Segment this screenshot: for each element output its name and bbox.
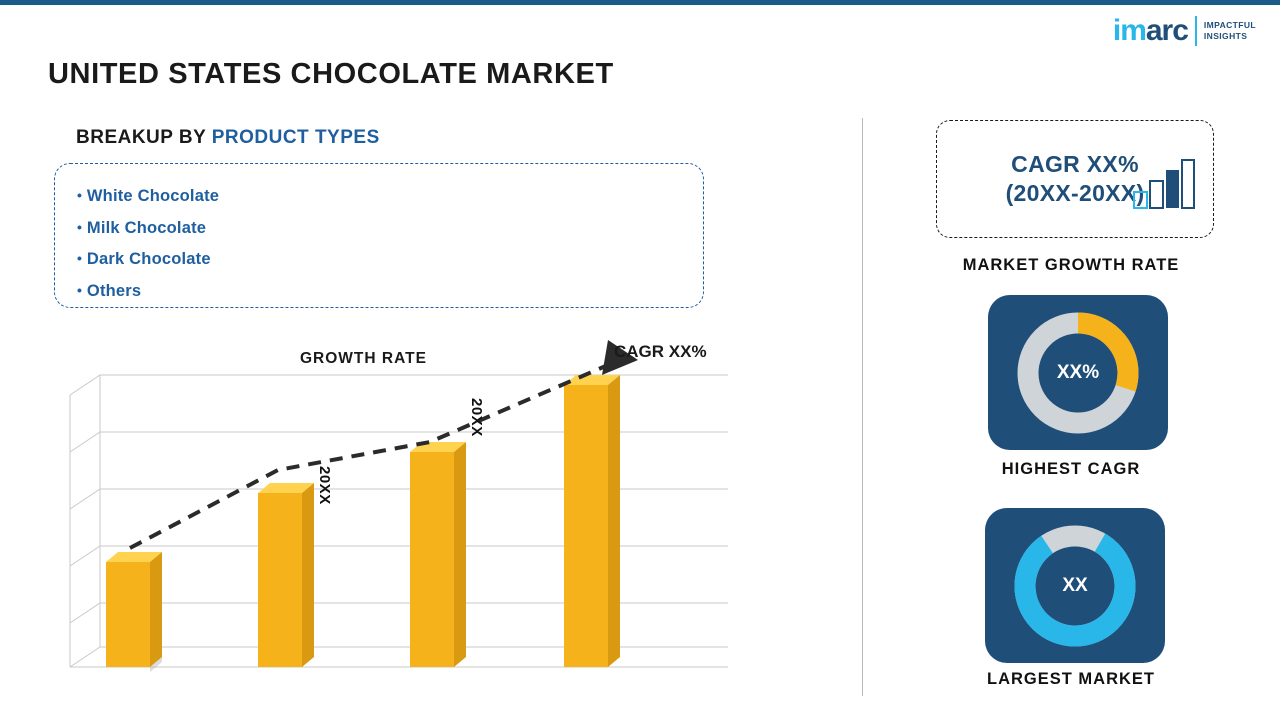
chart-bar-2 (258, 483, 314, 667)
list-item-label: White Chocolate (87, 187, 219, 205)
logo-tagline-line2: INSIGHTS (1204, 31, 1256, 42)
largest-market-card: XX (985, 508, 1165, 663)
chart-bar-3 (410, 442, 466, 667)
list-item-label: Dark Chocolate (87, 250, 211, 268)
bullet-icon: • (77, 219, 82, 235)
chart-svg (48, 330, 748, 710)
vertical-divider (862, 118, 863, 696)
bar-chart-icon (1133, 159, 1195, 209)
list-item: • Others (77, 275, 703, 307)
imarc-logo: imarc IMPACTFUL INSIGHTS (1113, 16, 1256, 46)
section-subtitle: BREAKUP BY PRODUCT TYPES (76, 127, 380, 149)
highest-cagr-caption: HIGHEST CAGR (862, 460, 1280, 479)
top-accent-bar (0, 0, 1280, 5)
bullet-icon: • (77, 250, 82, 266)
bullet-icon: • (77, 282, 82, 298)
chart-cagr-annotation: CAGR XX% (614, 342, 707, 362)
list-item: • Dark Chocolate (77, 243, 703, 275)
logo-divider (1195, 16, 1197, 46)
logo-tagline-line1: IMPACTFUL (1204, 20, 1256, 31)
chart-gridlines (70, 375, 728, 667)
market-growth-rate-caption: MARKET GROWTH RATE (862, 256, 1280, 275)
chart-x-axis-label: GROWTH RATE (300, 350, 427, 368)
list-item: • White Chocolate (77, 180, 703, 212)
largest-market-value: XX (985, 575, 1165, 597)
product-types-list: • White Chocolate • Milk Chocolate • Dar… (54, 163, 704, 308)
list-item: • Milk Chocolate (77, 212, 703, 244)
list-item-label: Others (87, 282, 141, 300)
chart-bar-3-value: 20XX (316, 466, 333, 505)
highest-cagr-value: XX% (988, 362, 1168, 384)
subtitle-highlight: PRODUCT TYPES (212, 127, 380, 148)
page-title: UNITED STATES CHOCOLATE MARKET (48, 58, 614, 91)
growth-rate-chart: 20XX 20XX CAGR XX% (48, 330, 748, 710)
market-growth-rate-box: CAGR XX% (20XX-20XX) (936, 120, 1214, 238)
cagr-line-2: (20XX-20XX) (1006, 179, 1145, 208)
market-growth-rate-value: CAGR XX% (20XX-20XX) (1006, 150, 1145, 208)
chart-trend-line (130, 340, 638, 548)
bullet-icon: • (77, 187, 82, 203)
chart-bar-1 (106, 552, 162, 672)
cagr-line-1: CAGR XX% (1006, 150, 1145, 179)
chart-bar-4 (564, 375, 620, 667)
list-item-label: Milk Chocolate (87, 219, 206, 237)
chart-bar-4-value: 20XX (468, 398, 485, 437)
logo-wordmark-arc: arc (1146, 14, 1188, 47)
logo-wordmark: imarc (1113, 16, 1188, 46)
logo-tagline: IMPACTFUL INSIGHTS (1204, 20, 1256, 43)
highest-cagr-card: XX% (988, 295, 1168, 450)
subtitle-prefix: BREAKUP BY (76, 127, 212, 148)
largest-market-caption: LARGEST MARKET (862, 670, 1280, 689)
logo-wordmark-im: im (1113, 14, 1146, 47)
